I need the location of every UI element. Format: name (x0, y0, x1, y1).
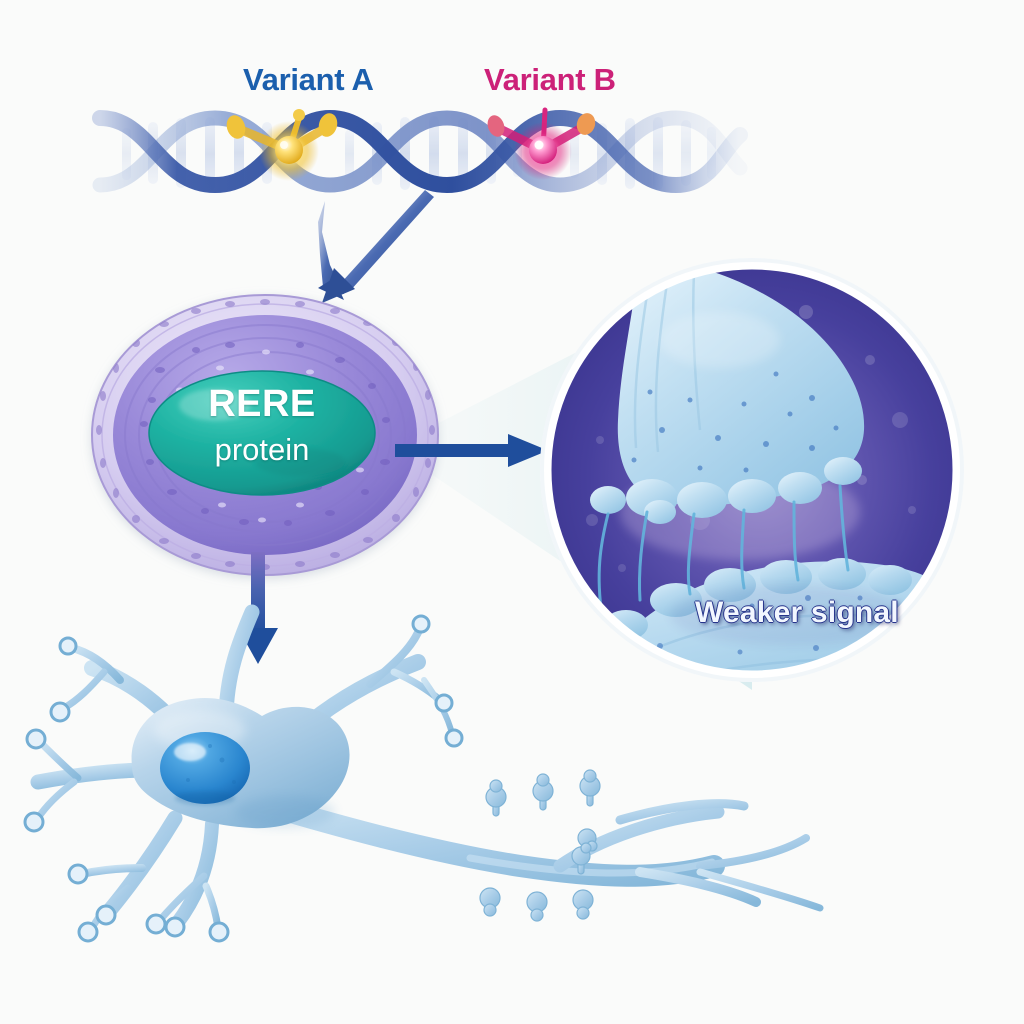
rere-protein-subtitle: protein (152, 432, 372, 468)
axon-terminal-branches (560, 804, 820, 908)
dna-double-helix (100, 109, 740, 192)
axon-spines (480, 770, 600, 921)
illustration-layer (0, 0, 1024, 1024)
variant-a-label: Variant A (243, 62, 374, 98)
arrow-variant-b-to-cell (322, 190, 434, 303)
diagram-canvas: Variant A Variant B RERE protein Weaker … (0, 0, 1024, 1024)
synapse-inset[interactable] (540, 258, 968, 731)
variant-b-label: Variant B (484, 62, 616, 98)
rere-protein-name: RERE (152, 383, 372, 426)
weaker-signal-caption: Weaker signal (695, 596, 899, 630)
